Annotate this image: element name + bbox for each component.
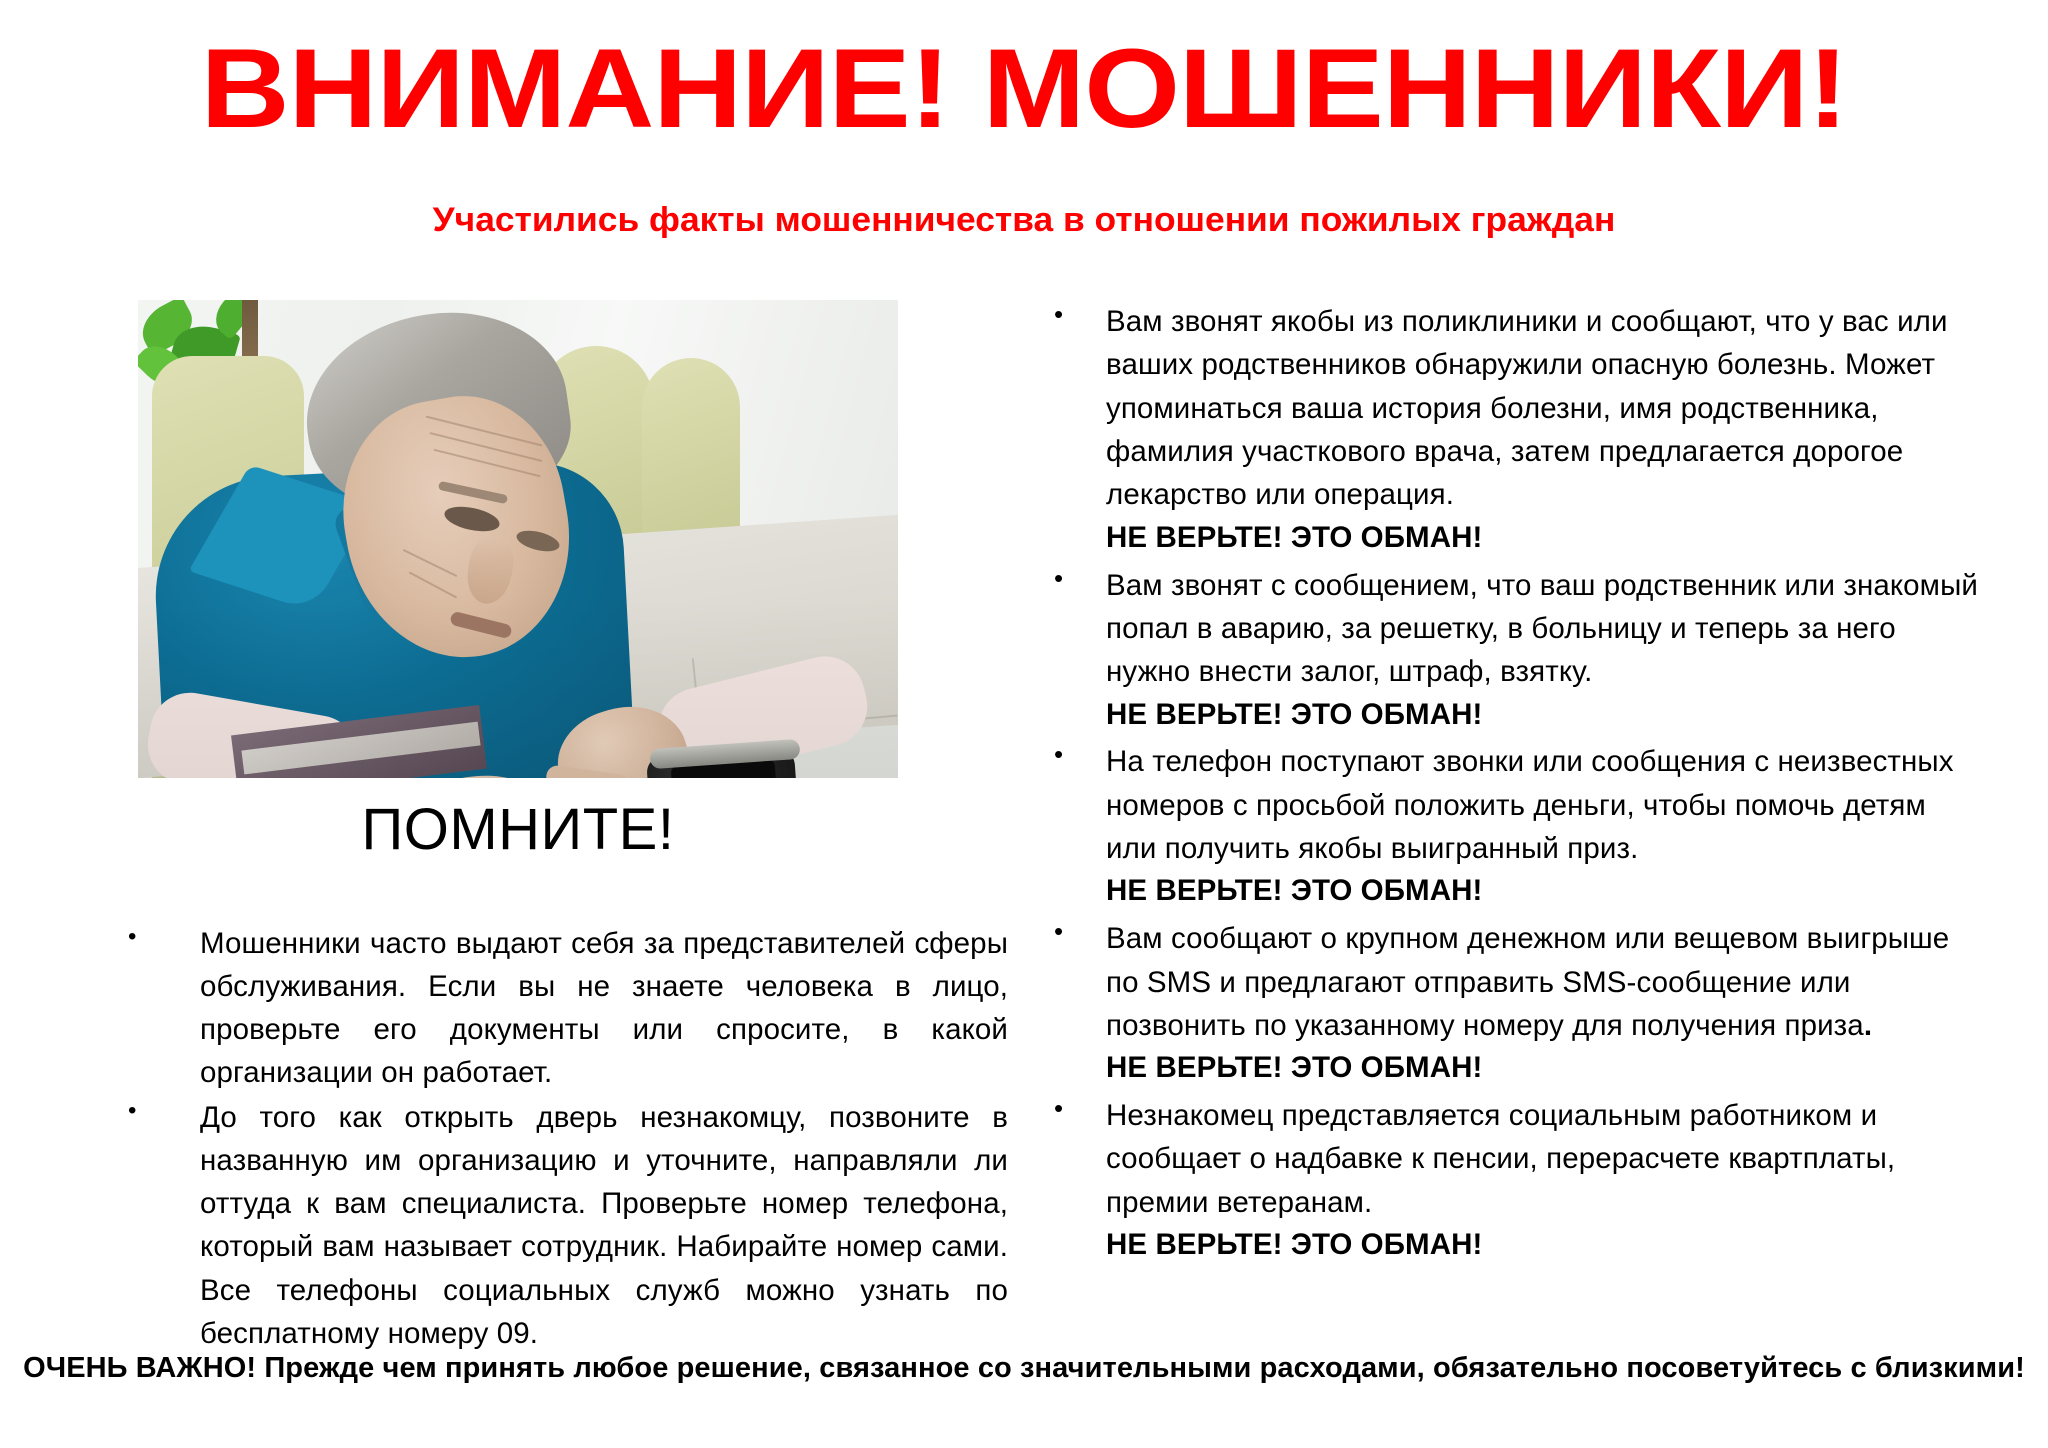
- list-item: Мошенники часто выдают себя за представи…: [128, 922, 1008, 1094]
- right-bullet-list: Вам звонят якобы из поликлиники и сообща…: [1048, 300, 1978, 1267]
- right-bullet-text-4: Вам сообщают о крупном денежном или веще…: [1106, 917, 1978, 1047]
- photo-elderly-woman-counting-coins: [138, 300, 898, 778]
- right-bullet-text-1: Вам звонят якобы из поликлиники и сообща…: [1106, 300, 1978, 517]
- list-item: Вам звонят с сообщением, что ваш родстве…: [1048, 564, 1978, 737]
- list-item: Незнакомец представляется социальным раб…: [1048, 1094, 1978, 1267]
- page-title: ВНИМАНИЕ! МОШЕННИКИ!: [0, 30, 2048, 148]
- left-bullet-text-2: До того как открыть дверь незнакомцу, по…: [200, 1096, 1008, 1354]
- left-bullet-text-1: Мошенники часто выдают себя за представи…: [200, 922, 1008, 1094]
- warning-label-3: НЕ ВЕРЬТЕ! ЭТО ОБМАН!: [1106, 870, 1978, 913]
- right-bullet-text-5: Незнакомец представляется социальным раб…: [1106, 1094, 1978, 1224]
- left-bullet-list: Мошенники часто выдают себя за представи…: [128, 922, 1008, 1355]
- right-bullet-text-4-body: Вам сообщают о крупном денежном или веще…: [1106, 922, 1949, 1042]
- warning-label-2: НЕ ВЕРЬТЕ! ЭТО ОБМАН!: [1106, 694, 1978, 737]
- right-bullet-text-2: Вам звонят с сообщением, что ваш родстве…: [1106, 564, 1978, 694]
- list-item: До того как открыть дверь незнакомцу, по…: [128, 1096, 1008, 1354]
- footer-note: ОЧЕНЬ ВАЖНО! Прежде чем принять любое ре…: [0, 1352, 2048, 1385]
- right-bullet-text-3: На телефон поступают звонки или сообщени…: [1106, 740, 1978, 870]
- warning-label-1: НЕ ВЕРЬТЕ! ЭТО ОБМАН!: [1106, 517, 1978, 560]
- poster-root: ВНИМАНИЕ! МОШЕННИКИ! Участились факты мо…: [0, 0, 2048, 1448]
- remember-heading: ПОМНИТЕ!: [138, 800, 898, 861]
- list-item: На телефон поступают звонки или сообщени…: [1048, 740, 1978, 913]
- list-item: Вам звонят якобы из поликлиники и сообща…: [1048, 300, 1978, 560]
- right-bullet-text-4-period: .: [1864, 1009, 1872, 1042]
- page-subtitle: Участились факты мошенничества в отношен…: [0, 202, 2048, 239]
- right-scam-list-column: Вам звонят якобы из поликлиники и сообща…: [1048, 300, 1978, 1271]
- warning-label-4: НЕ ВЕРЬТЕ! ЭТО ОБМАН!: [1106, 1047, 1978, 1090]
- warning-label-5: НЕ ВЕРЬТЕ! ЭТО ОБМАН!: [1106, 1224, 1978, 1267]
- photo-canvas: [138, 300, 898, 778]
- list-item: Вам сообщают о крупном денежном или веще…: [1048, 917, 1978, 1090]
- left-advice-column: Мошенники часто выдают себя за представи…: [128, 922, 1008, 1357]
